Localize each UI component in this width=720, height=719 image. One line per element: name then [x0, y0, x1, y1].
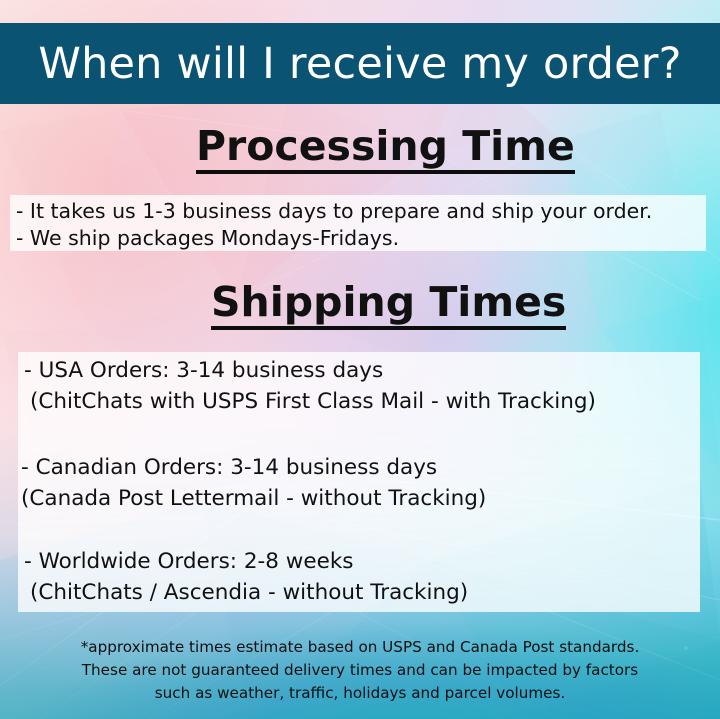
processing-time-line: - It takes us 1-3 business days to prepa… — [16, 198, 652, 225]
processing-time-list: - It takes us 1-3 business days to prepa… — [16, 198, 652, 252]
shipping-item-detail: (ChitChats with USPS First Class Mail - … — [24, 386, 596, 417]
section-heading-processing-time: Processing Time — [196, 125, 575, 174]
shipping-item-usa: - USA Orders: 3-14 business days (ChitCh… — [24, 355, 596, 417]
shipping-policy-poster: When will I receive my order? Processing… — [0, 0, 720, 719]
shipping-item-detail: (ChitChats / Ascendia - without Tracking… — [24, 577, 468, 608]
page-title: When will I receive my order? — [38, 39, 681, 89]
footnote-line: *approximate times estimate based on USP… — [0, 636, 720, 659]
shipping-item-title: - USA Orders: 3-14 business days — [24, 355, 596, 386]
footnote-line: such as weather, traffic, holidays and p… — [0, 682, 720, 705]
header-banner: When will I receive my order? — [0, 23, 720, 104]
shipping-item-canada: - Canadian Orders: 3-14 business days (C… — [21, 452, 486, 514]
processing-time-line: - We ship packages Mondays-Fridays. — [16, 225, 652, 252]
footnote-disclaimer: *approximate times estimate based on USP… — [0, 636, 720, 705]
footnote-line: These are not guaranteed delivery times … — [0, 659, 720, 682]
shipping-item-title: - Worldwide Orders: 2-8 weeks — [24, 546, 468, 577]
shipping-item-worldwide: - Worldwide Orders: 2-8 weeks (ChitChats… — [24, 546, 468, 608]
shipping-item-detail: (Canada Post Lettermail - without Tracki… — [21, 483, 486, 514]
section-heading-shipping-times: Shipping Times — [211, 281, 566, 330]
shipping-item-title: - Canadian Orders: 3-14 business days — [21, 452, 486, 483]
